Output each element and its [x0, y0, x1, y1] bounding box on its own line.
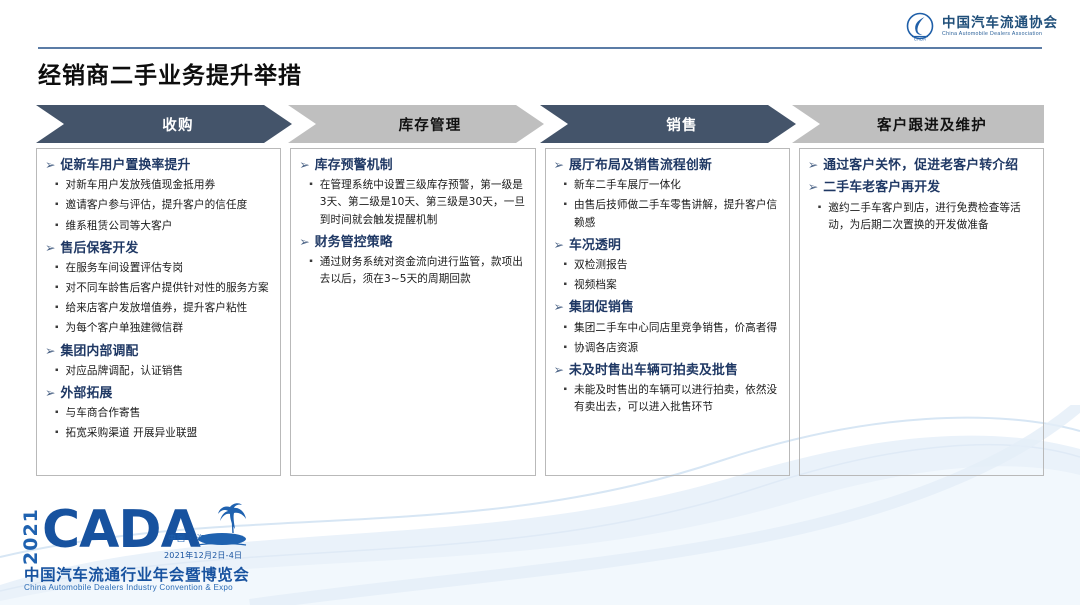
list-item-text: 拓宽采购渠道 开展异业联盟 [66, 425, 198, 442]
association-logo: CADA 中国汽车流通协会 China Automobile Dealers A… [905, 12, 1058, 42]
bullet-dot-icon: ▪ [564, 320, 568, 336]
section-heading-label: 集团内部调配 [60, 343, 138, 360]
section-heading-label: 财务管控策略 [315, 234, 393, 251]
arrow-bullet-icon: ➢ [45, 240, 55, 257]
list-item: ▪维系租赁公司等大客户 [55, 218, 272, 235]
section-heading-label: 库存预警机制 [315, 157, 393, 174]
bullet-dot-icon: ▪ [564, 277, 568, 293]
content-columns: ➢ 促新车用户置换率提升 ▪对新车用户发放残值现金抵用券 ▪邀请客户参与评估，提… [36, 148, 1044, 476]
list-item-text: 协调各店资源 [574, 340, 638, 357]
section-heading-label: 二手车老客户再开发 [823, 179, 940, 196]
process-step-3-label: 销售 [666, 114, 697, 135]
list-item: ▪对不同车龄售后客户提供针对性的服务方案 [55, 280, 272, 297]
list-item: ▪双检测报告 [564, 257, 781, 274]
slide: CADA 中国汽车流通协会 China Automobile Dealers A… [0, 0, 1080, 605]
bullet-dot-icon: ▪ [55, 320, 59, 336]
column-customer-follow-up: ➢ 通过客户关怀，促进老客户转介绍 ➢ 二手车老客户再开发 ▪邀约二手车客户到店… [799, 148, 1044, 476]
process-step-1-label: 收购 [162, 114, 193, 135]
bullet-dot-icon: ▪ [564, 177, 568, 193]
list-item: ▪邀约二手车客户到店，进行免费检查等活动，为后期二次置换的开发做准备 [818, 200, 1035, 234]
bullet-dot-icon: ▪ [55, 260, 59, 276]
section-heading-label: 未及时售出车辆可拍卖及批售 [569, 362, 738, 379]
list-item: ▪给来店客户发放增值券，提升客户粘性 [55, 300, 272, 317]
section-heading: ➢ 展厅布局及销售流程创新 [554, 157, 781, 174]
section-heading: ➢ 外部拓展 [45, 385, 272, 402]
process-step-2-label: 库存管理 [399, 114, 462, 135]
section-heading-label: 外部拓展 [60, 385, 112, 402]
list-item-text: 维系租赁公司等大客户 [66, 218, 173, 235]
cada-swoosh-icon: CADA [905, 12, 935, 42]
arrow-bullet-icon: ➢ [45, 157, 55, 174]
svg-text:CADA: CADA [914, 37, 926, 42]
bullet-dot-icon: ▪ [564, 340, 568, 356]
process-step-3[interactable]: 销售 [568, 105, 796, 143]
arrow-bullet-icon: ➢ [554, 157, 564, 174]
arrow-bullet-icon: ➢ [45, 343, 55, 360]
association-logo-en: China Automobile Dealers Association [942, 32, 1058, 37]
list-item-text: 未能及时售出的车辆可以进行拍卖，依然没有卖出去，可以进入批售环节 [574, 382, 781, 416]
list-item-text: 视频档案 [574, 277, 617, 294]
section-heading: ➢ 车况透明 [554, 237, 781, 254]
list-item: ▪对新车用户发放残值现金抵用券 [55, 177, 272, 194]
section-heading-label: 集团促销售 [569, 299, 634, 316]
section-heading: ➢ 库存预警机制 [299, 157, 526, 174]
process-step-2[interactable]: 库存管理 [316, 105, 544, 143]
column-inventory-management: ➢ 库存预警机制 ▪在管理系统中设置三级库存预警，第一级是3天、第二级是10天、… [290, 148, 535, 476]
bullet-dot-icon: ▪ [818, 200, 822, 216]
arrow-bullet-icon: ➢ [808, 179, 818, 196]
bullet-dot-icon: ▪ [55, 425, 59, 441]
section-heading: ➢ 财务管控策略 [299, 234, 526, 251]
column-acquisition: ➢ 促新车用户置换率提升 ▪对新车用户发放残值现金抵用券 ▪邀请客户参与评估，提… [36, 148, 281, 476]
list-item-text: 对新车用户发放残值现金抵用券 [66, 177, 216, 194]
page-title: 经销商二手业务提升举措 [38, 56, 302, 90]
list-item: ▪视频档案 [564, 277, 781, 294]
section-heading-label: 通过客户关怀，促进老客户转介绍 [823, 157, 1018, 174]
list-item-text: 双检测报告 [574, 257, 627, 274]
section-heading: ➢ 集团促销售 [554, 299, 781, 316]
list-item-text: 在服务车间设置评估专岗 [66, 260, 184, 277]
event-logo-date: 2021年12月2日-4日 [164, 550, 242, 561]
list-item-text: 与车商合作寄售 [66, 405, 141, 422]
list-item-text: 通过财务系统对资金流向进行监管，款项出去以后，须在3~5天的周期回款 [320, 254, 527, 288]
process-step-1[interactable]: 收购 [64, 105, 292, 143]
arrow-bullet-icon: ➢ [299, 234, 309, 251]
list-item: ▪对应品牌调配，认证销售 [55, 363, 272, 380]
event-logo-name-cn: 中国汽车流通行业年会暨博览会 [24, 563, 249, 585]
list-item-text: 由售后技师做二手车零售讲解，提升客户信赖感 [574, 197, 781, 231]
list-item: ▪新车二手车展厅一体化 [564, 177, 781, 194]
association-logo-cn: 中国汽车流通协会 [942, 16, 1058, 30]
section-heading: ➢ 通过客户关怀，促进老客户转介绍 [808, 157, 1035, 174]
list-item: ▪未能及时售出的车辆可以进行拍卖，依然没有卖出去，可以进入批售环节 [564, 382, 781, 416]
list-item: ▪由售后技师做二手车零售讲解，提升客户信赖感 [564, 197, 781, 231]
list-item-text: 对应品牌调配，认证销售 [66, 363, 184, 380]
bullet-dot-icon: ▪ [309, 254, 313, 270]
arrow-bullet-icon: ➢ [45, 385, 55, 402]
section-heading: ➢ 售后保客开发 [45, 240, 272, 257]
list-item-text: 新车二手车展厅一体化 [574, 177, 681, 194]
list-item: ▪在服务车间设置评估专岗 [55, 260, 272, 277]
section-heading-label: 展厅布局及销售流程创新 [569, 157, 712, 174]
list-item: ▪与车商合作寄售 [55, 405, 272, 422]
list-item-text: 邀请客户参与评估，提升客户的信任度 [66, 197, 248, 214]
section-heading: ➢ 促新车用户置换率提升 [45, 157, 272, 174]
list-item-text: 在管理系统中设置三级库存预警，第一级是3天、第二级是10天、第三级是30天，一旦… [320, 177, 527, 228]
bullet-dot-icon: ▪ [309, 177, 313, 193]
list-item: ▪协调各店资源 [564, 340, 781, 357]
bullet-dot-icon: ▪ [564, 382, 568, 398]
bullet-dot-icon: ▪ [564, 197, 568, 213]
list-item: ▪在管理系统中设置三级库存预警，第一级是3天、第二级是10天、第三级是30天，一… [309, 177, 526, 228]
list-item: ▪为每个客户单独建微信群 [55, 320, 272, 337]
event-logo-name-en: China Automobile Dealers Industry Conven… [24, 583, 233, 592]
arrow-bullet-icon: ➢ [554, 299, 564, 316]
event-logo-year: 2021 [20, 507, 40, 565]
list-item: ▪通过财务系统对资金流向进行监管，款项出去以后，须在3~5天的周期回款 [309, 254, 526, 288]
section-heading-label: 售后保客开发 [60, 240, 138, 257]
section-heading: ➢ 集团内部调配 [45, 343, 272, 360]
arrow-bullet-icon: ➢ [808, 157, 818, 174]
list-item: ▪邀请客户参与评估，提升客户的信任度 [55, 197, 272, 214]
section-heading: ➢ 未及时售出车辆可拍卖及批售 [554, 362, 781, 379]
process-step-4-label: 客户跟进及维护 [877, 114, 987, 135]
list-item-text: 对不同车龄售后客户提供针对性的服务方案 [66, 280, 269, 297]
bullet-dot-icon: ▪ [55, 405, 59, 421]
list-item: ▪集团二手车中心同店里竞争销售，价高者得 [564, 320, 781, 337]
bullet-dot-icon: ▪ [55, 197, 59, 213]
arrow-bullet-icon: ➢ [554, 237, 564, 254]
list-item-text: 给来店客户发放增值券，提升客户粘性 [66, 300, 248, 317]
bullet-dot-icon: ▪ [55, 280, 59, 296]
bullet-dot-icon: ▪ [55, 177, 59, 193]
arrow-bullet-icon: ➢ [299, 157, 309, 174]
process-step-4[interactable]: 客户跟进及维护 [820, 105, 1044, 143]
bullet-dot-icon: ▪ [55, 300, 59, 316]
bullet-dot-icon: ▪ [564, 257, 568, 273]
list-item-text: 邀约二手车客户到店，进行免费检查等活动，为后期二次置换的开发做准备 [828, 200, 1035, 234]
list-item-text: 集团二手车中心同店里竞争销售，价高者得 [574, 320, 777, 337]
process-chevron-row: 收购 库存管理 销售 客户跟进及维护 [36, 105, 1044, 143]
column-sales: ➢ 展厅布局及销售流程创新 ▪新车二手车展厅一体化 ▪由售后技师做二手车零售讲解… [545, 148, 790, 476]
list-item: ▪拓宽采购渠道 开展异业联盟 [55, 425, 272, 442]
event-logo: 2021 CADA 中国 · 海口 2021年12月2日-4日 中国汽车流通行业… [18, 501, 250, 597]
arrow-bullet-icon: ➢ [554, 362, 564, 379]
event-logo-place: 中国 · 海口 [168, 533, 215, 544]
section-heading-label: 车况透明 [569, 237, 621, 254]
section-heading: ➢ 二手车老客户再开发 [808, 179, 1035, 196]
bullet-dot-icon: ▪ [55, 363, 59, 379]
section-heading-label: 促新车用户置换率提升 [60, 157, 190, 174]
list-item-text: 为每个客户单独建微信群 [66, 320, 184, 337]
title-divider [38, 47, 1042, 49]
bullet-dot-icon: ▪ [55, 218, 59, 234]
